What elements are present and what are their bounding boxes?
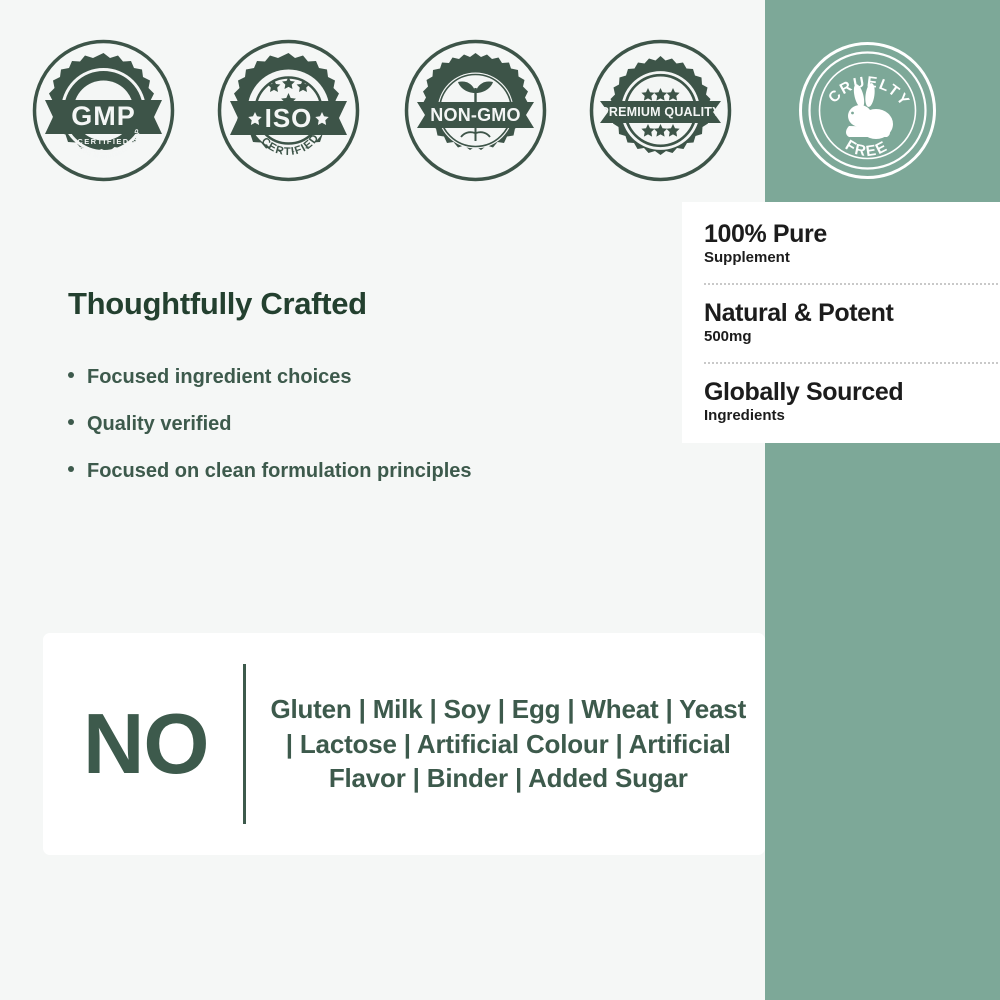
list-item-label: Quality verified <box>87 411 232 437</box>
highlight-title: Natural & Potent <box>704 299 1000 327</box>
list-item-label: Focused on clean formulation principles <box>87 458 472 484</box>
thoughtfully-crafted-section: Thoughtfully Crafted Focused ingredient … <box>68 286 668 505</box>
non-gmo-badge-icon: NON-GMO <box>403 38 548 183</box>
promo-graphic-page: GMP CERTIFIED Good Manufacturing Practic… <box>0 0 1000 1000</box>
list-item: Focused on clean formulation principles <box>68 458 668 484</box>
gmp-certified-badge-icon: GMP CERTIFIED Good Manufacturing Practic… <box>31 38 176 183</box>
section-title: Thoughtfully Crafted <box>68 286 668 322</box>
svg-text:GMP: GMP <box>71 101 136 131</box>
highlight-subtitle: Supplement <box>704 249 1000 267</box>
svg-text:CERTIFIED: CERTIFIED <box>77 137 129 146</box>
highlight-item-potency: Natural & Potent 500mg <box>704 299 1000 346</box>
svg-text:ISO: ISO <box>265 103 313 133</box>
highlight-item-pure: 100% Pure Supplement <box>704 220 1000 267</box>
bullet-dot-icon <box>68 466 74 472</box>
certification-badges-row: GMP CERTIFIED Good Manufacturing Practic… <box>0 38 1000 183</box>
product-highlights-card: 100% Pure Supplement Natural & Potent 50… <box>682 202 1000 443</box>
divider <box>704 362 1000 364</box>
excluded-ingredients-text: Gluten | Milk | Soy | Egg | Wheat | Yeas… <box>246 692 766 796</box>
svg-text:PREMIUM QUALITY: PREMIUM QUALITY <box>600 105 721 119</box>
premium-quality-badge-icon: PREMIUM QUALITY <box>588 38 733 183</box>
highlight-item-sourcing: Globally Sourced Ingredients <box>704 378 1000 425</box>
free-from-card: NO Gluten | Milk | Soy | Egg | Wheat | Y… <box>43 633 765 855</box>
list-item: Focused ingredient choices <box>68 364 668 390</box>
bullet-dot-icon <box>68 372 74 378</box>
divider <box>704 283 1000 285</box>
highlight-title: Globally Sourced <box>704 378 1000 406</box>
no-label: NO <box>43 702 243 787</box>
svg-text:NON-GMO: NON-GMO <box>430 105 520 125</box>
highlight-title: 100% Pure <box>704 220 1000 248</box>
cruelty-free-badge-icon: CRUELTY FREE <box>795 38 940 183</box>
iso-certified-badge-icon: ISO CERTIFIED <box>216 38 361 183</box>
highlight-subtitle: Ingredients <box>704 407 1000 425</box>
benefits-list: Focused ingredient choices Quality verif… <box>68 364 668 484</box>
svg-text:FREE: FREE <box>842 137 891 161</box>
highlight-subtitle: 500mg <box>704 328 1000 346</box>
bullet-dot-icon <box>68 419 74 425</box>
list-item-label: Focused ingredient choices <box>87 364 352 390</box>
list-item: Quality verified <box>68 411 668 437</box>
